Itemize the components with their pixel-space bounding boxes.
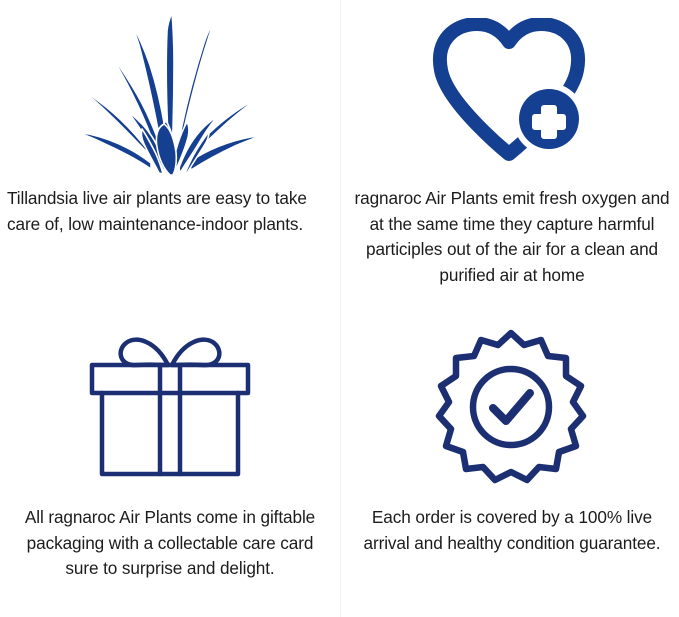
badge-starburst — [439, 333, 583, 480]
feature-caption: All ragnaroc Air Plants come in giftable… — [2, 505, 338, 582]
feature-caption: Tillandsia live air plants are easy to t… — [2, 186, 338, 237]
feature-card-fresh-oxygen: ragnaroc Air Plants emit fresh oxygen an… — [340, 0, 679, 309]
feature-caption: ragnaroc Air Plants emit fresh oxygen an… — [345, 186, 677, 288]
heart-plus-icon — [431, 18, 591, 168]
gift-box-icon — [80, 325, 260, 490]
gift-body — [102, 393, 238, 474]
check-icon — [493, 393, 530, 421]
feature-grid: Tillandsia live air plants are easy to t… — [0, 0, 679, 617]
bow-right-loop — [172, 339, 219, 365]
air-plant-icon-wrap — [2, 0, 338, 186]
feature-card-live-arrival-guarantee: Each order is covered by a 100% live arr… — [340, 309, 679, 617]
air-plant-icon — [75, 11, 265, 176]
feature-card-air-plant-care: Tillandsia live air plants are easy to t… — [0, 0, 340, 309]
badge-circle — [473, 369, 549, 445]
feature-caption: Each order is covered by a 100% live arr… — [345, 505, 677, 556]
gift-box-icon-wrap — [2, 309, 338, 505]
heart-plus-icon-wrap — [345, 0, 677, 186]
verified-badge-icon — [431, 327, 591, 487]
gift-lid — [92, 365, 248, 393]
verified-badge-icon-wrap — [345, 309, 677, 505]
bow-left-loop — [121, 339, 168, 365]
feature-card-giftable-packaging: All ragnaroc Air Plants come in giftable… — [0, 309, 340, 617]
